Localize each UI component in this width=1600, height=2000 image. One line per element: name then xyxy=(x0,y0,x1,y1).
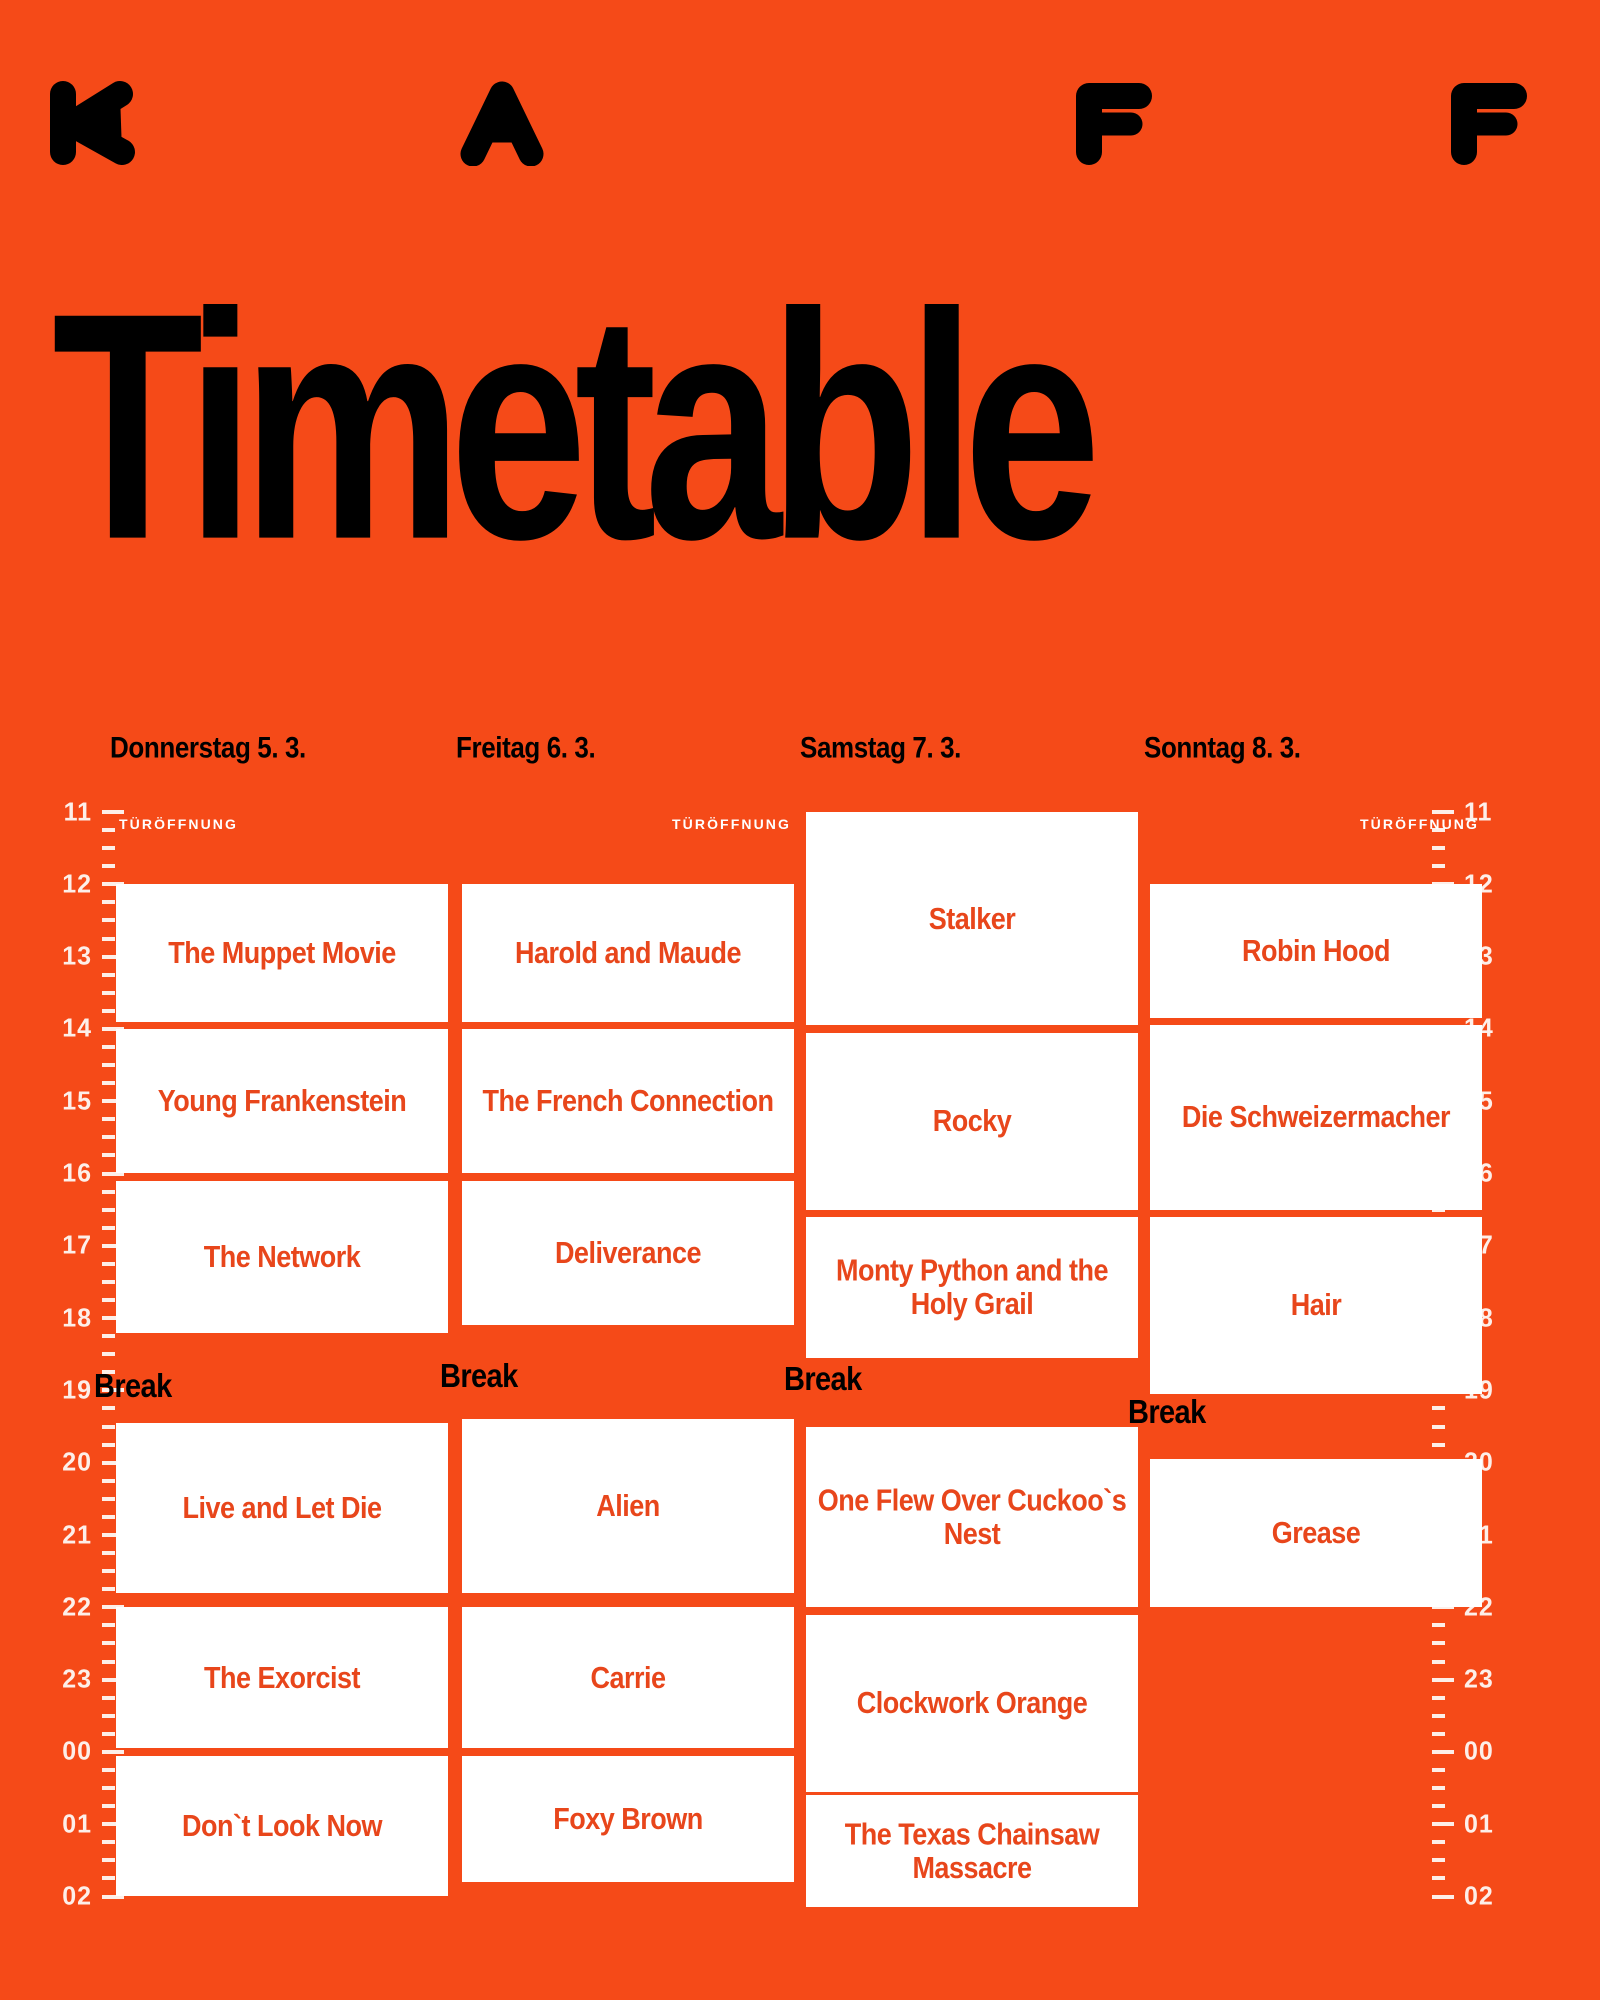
axis-tick-minor xyxy=(102,1714,115,1718)
axis-tick-minor xyxy=(102,1009,115,1013)
film-title: Grease xyxy=(1272,1516,1361,1550)
day-column-1: TÜRÖFFNUNGBreakThe Muppet MovieYoung Fra… xyxy=(116,790,448,1937)
axis-tick-minor xyxy=(102,1479,115,1483)
door-opening-label: TÜRÖFFNUNG xyxy=(1360,816,1479,832)
film-card[interactable]: Live and Let Die xyxy=(116,1423,448,1593)
axis-hour-label: 16 xyxy=(46,1158,92,1188)
break-label: Break xyxy=(784,1361,862,1399)
axis-hour-label: 19 xyxy=(46,1375,92,1405)
axis-tick-minor xyxy=(102,1623,115,1627)
film-card[interactable]: Die Schweizermacher xyxy=(1150,1025,1482,1209)
door-opening-label: TÜRÖFFNUNG xyxy=(119,816,238,832)
axis-tick-minor xyxy=(102,1515,115,1519)
break-label: Break xyxy=(94,1368,172,1406)
axis-hour-label: 20 xyxy=(46,1447,92,1477)
film-card[interactable]: Carrie xyxy=(462,1607,794,1748)
film-card[interactable]: Stalker xyxy=(806,812,1138,1025)
axis-tick-minor xyxy=(102,1497,115,1501)
break-label: Break xyxy=(1128,1394,1206,1432)
axis-tick-minor xyxy=(102,1406,115,1410)
brand-letter-k-0 xyxy=(48,80,144,166)
axis-tick-minor xyxy=(102,900,115,904)
axis-tick-minor xyxy=(102,1696,115,1700)
axis-hour-label: 00 xyxy=(46,1737,92,1767)
film-title: Rocky xyxy=(933,1104,1012,1138)
brand-letter-a-1 xyxy=(455,80,551,166)
film-title: Foxy Brown xyxy=(553,1802,703,1836)
axis-hour-label: 21 xyxy=(46,1520,92,1550)
axis-hour-label: 15 xyxy=(46,1086,92,1116)
day-column-3: BreakStalkerRockyMonty Python and the Ho… xyxy=(806,790,1138,1937)
film-card[interactable]: Don`t Look Now xyxy=(116,1756,448,1897)
film-card[interactable]: One Flew Over Cuckoo`s Nest xyxy=(806,1427,1138,1608)
axis-tick-minor xyxy=(102,1334,115,1338)
axis-tick-minor xyxy=(102,1660,115,1664)
axis-tick-minor xyxy=(102,1352,115,1356)
film-card[interactable]: Monty Python and the Holy Grail xyxy=(806,1217,1138,1358)
film-title: Live and Let Die xyxy=(182,1491,381,1525)
film-title: The Texas Chainsaw Massacre xyxy=(816,1817,1128,1885)
film-title: Hair xyxy=(1291,1288,1342,1322)
axis-tick-minor xyxy=(102,1840,115,1844)
axis-hour-label: 11 xyxy=(46,797,92,827)
axis-tick-minor xyxy=(102,1208,115,1212)
film-card[interactable]: The Texas Chainsaw Massacre xyxy=(806,1795,1138,1907)
axis-tick-minor xyxy=(102,1858,115,1862)
day-heading-2: Freitag 6. 3. xyxy=(456,730,595,765)
axis-tick-minor xyxy=(102,1117,115,1121)
axis-tick-minor xyxy=(102,1226,115,1230)
brand-logo-row xyxy=(0,80,1600,190)
day-column-4: TÜRÖFFNUNGBreakRobin HoodDie Schweizerma… xyxy=(1150,790,1482,1937)
axis-tick-minor xyxy=(102,828,115,832)
film-title: Clockwork Orange xyxy=(857,1686,1088,1720)
film-title: Don`t Look Now xyxy=(182,1809,382,1843)
axis-tick-minor xyxy=(102,1587,115,1591)
axis-hour-label: 14 xyxy=(46,1014,92,1044)
axis-tick-minor xyxy=(102,1876,115,1880)
film-card[interactable]: Harold and Maude xyxy=(462,884,794,1021)
axis-tick-minor xyxy=(102,1298,115,1302)
film-title: The French Connection xyxy=(482,1084,773,1118)
axis-tick-minor xyxy=(102,1804,115,1808)
film-card[interactable]: Deliverance xyxy=(462,1181,794,1326)
axis-hour-label: 18 xyxy=(46,1303,92,1333)
film-title: Deliverance xyxy=(555,1236,701,1270)
axis-hour-label: 23 xyxy=(46,1664,92,1694)
timetable-grid: 11121314151617181920212223000102 1112131… xyxy=(0,730,1600,1930)
film-card[interactable]: Young Frankenstein xyxy=(116,1029,448,1174)
day-heading-1: Donnerstag 5. 3. xyxy=(110,730,306,765)
film-title: Harold and Maude xyxy=(515,936,741,970)
axis-tick-minor xyxy=(102,1081,115,1085)
day-heading-4: Sonntag 8. 3. xyxy=(1144,730,1301,765)
axis-tick-minor xyxy=(102,864,115,868)
axis-hour-label: 17 xyxy=(46,1231,92,1261)
break-label: Break xyxy=(440,1358,518,1396)
axis-hour-label: 22 xyxy=(46,1592,92,1622)
film-card[interactable]: Rocky xyxy=(806,1033,1138,1210)
film-card[interactable]: Robin Hood xyxy=(1150,884,1482,1018)
door-opening-label: TÜRÖFFNUNG xyxy=(672,816,791,832)
film-card[interactable]: Alien xyxy=(462,1419,794,1593)
axis-hour-label: 13 xyxy=(46,941,92,971)
film-card[interactable]: The French Connection xyxy=(462,1029,794,1174)
axis-tick-minor xyxy=(102,1262,115,1266)
axis-tick-minor xyxy=(102,1280,115,1284)
page-title: Timetable xyxy=(52,288,1088,565)
film-title: One Flew Over Cuckoo`s Nest xyxy=(816,1483,1128,1551)
film-card[interactable]: The Network xyxy=(116,1181,448,1333)
axis-tick-minor xyxy=(102,1063,115,1067)
film-card[interactable]: Foxy Brown xyxy=(462,1756,794,1883)
film-title: Alien xyxy=(596,1489,660,1523)
film-card[interactable]: Grease xyxy=(1150,1459,1482,1607)
axis-hour-label: 02 xyxy=(46,1881,92,1911)
axis-tick-minor xyxy=(102,1190,115,1194)
film-title: Carrie xyxy=(590,1661,665,1695)
film-card[interactable]: The Exorcist xyxy=(116,1607,448,1748)
axis-tick-minor xyxy=(102,1732,115,1736)
axis-tick-minor xyxy=(102,1045,115,1049)
axis-tick-minor xyxy=(102,846,115,850)
axis-tick-minor xyxy=(102,973,115,977)
axis-tick-minor xyxy=(102,1569,115,1573)
film-card[interactable]: Clockwork Orange xyxy=(806,1615,1138,1792)
axis-tick-minor xyxy=(102,1768,115,1772)
brand-letter-f-2 xyxy=(1065,80,1161,166)
film-title: The Network xyxy=(204,1240,361,1274)
film-title: Monty Python and the Holy Grail xyxy=(816,1253,1128,1321)
film-title: The Exorcist xyxy=(204,1661,360,1695)
film-title: Stalker xyxy=(929,902,1016,936)
day-heading-3: Samstag 7. 3. xyxy=(800,730,961,765)
axis-tick-minor xyxy=(102,1153,115,1157)
axis-tick-minor xyxy=(102,1551,115,1555)
axis-tick-minor xyxy=(102,1641,115,1645)
axis-tick-minor xyxy=(102,937,115,941)
day-column-2: TÜRÖFFNUNGBreakHarold and MaudeThe Frenc… xyxy=(462,790,794,1937)
axis-tick-minor xyxy=(102,1425,115,1429)
film-card[interactable]: Hair xyxy=(1150,1217,1482,1394)
axis-tick-minor xyxy=(102,1786,115,1790)
axis-tick-minor xyxy=(102,1135,115,1139)
film-title: Young Frankenstein xyxy=(158,1084,407,1118)
film-card[interactable]: The Muppet Movie xyxy=(116,884,448,1021)
film-title: Die Schweizermacher xyxy=(1182,1101,1450,1135)
axis-hour-label: 12 xyxy=(46,869,92,899)
film-title: The Muppet Movie xyxy=(168,936,396,970)
film-title: Robin Hood xyxy=(1242,934,1390,968)
brand-letter-f-3 xyxy=(1440,80,1536,166)
axis-tick-minor xyxy=(102,918,115,922)
axis-tick-minor xyxy=(102,991,115,995)
axis-hour-label: 01 xyxy=(46,1809,92,1839)
axis-tick-minor xyxy=(102,1443,115,1447)
